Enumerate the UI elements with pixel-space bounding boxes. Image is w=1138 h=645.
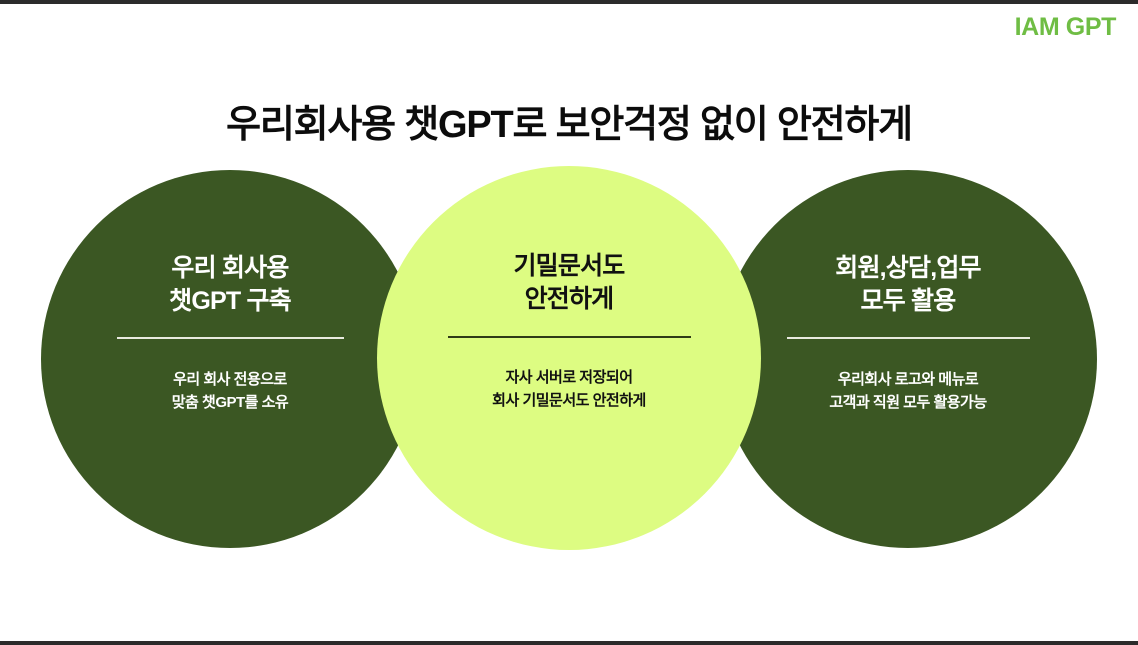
venn-circle-security: 기밀문서도 안전하게 자사 서버로 저장되어 회사 기밀문서도 안전하게 bbox=[377, 166, 761, 550]
venn-circle-build: 우리 회사용 챗GPT 구축 우리 회사 전용으로 맞춤 챗GPT를 소유 bbox=[41, 170, 419, 548]
venn-circle-security-divider bbox=[448, 336, 691, 338]
venn-circle-build-title: 우리 회사용 챗GPT 구축 bbox=[169, 252, 291, 318]
venn-circle-build-divider bbox=[117, 337, 344, 339]
venn-circle-build-body: 우리 회사 전용으로 맞춤 챗GPT를 소유 bbox=[172, 368, 288, 415]
venn-circle-security-title: 기밀문서도 안전하게 bbox=[513, 250, 624, 316]
venn-circle-usage: 회원,상담,업무 모두 활용 우리회사 로고와 메뉴로 고객과 직원 모두 활용… bbox=[719, 170, 1097, 548]
venn-circle-security-body: 자사 서버로 저장되어 회사 기밀문서도 안전하게 bbox=[492, 366, 646, 413]
venn-circle-usage-divider bbox=[787, 337, 1030, 339]
venn-circle-usage-body: 우리회사 로고와 메뉴로 고객과 직원 모두 활용가능 bbox=[829, 368, 986, 415]
slide-bottom-border bbox=[0, 641, 1138, 645]
slide-canvas: IAM GPT 우리회사용 챗GPT로 보안걱정 없이 안전하게 우리 회사용 … bbox=[0, 0, 1138, 645]
venn-circle-usage-title: 회원,상담,업무 모두 활용 bbox=[835, 252, 981, 318]
venn-diagram: 우리 회사용 챗GPT 구축 우리 회사 전용으로 맞춤 챗GPT를 소유 회원… bbox=[0, 0, 1138, 645]
